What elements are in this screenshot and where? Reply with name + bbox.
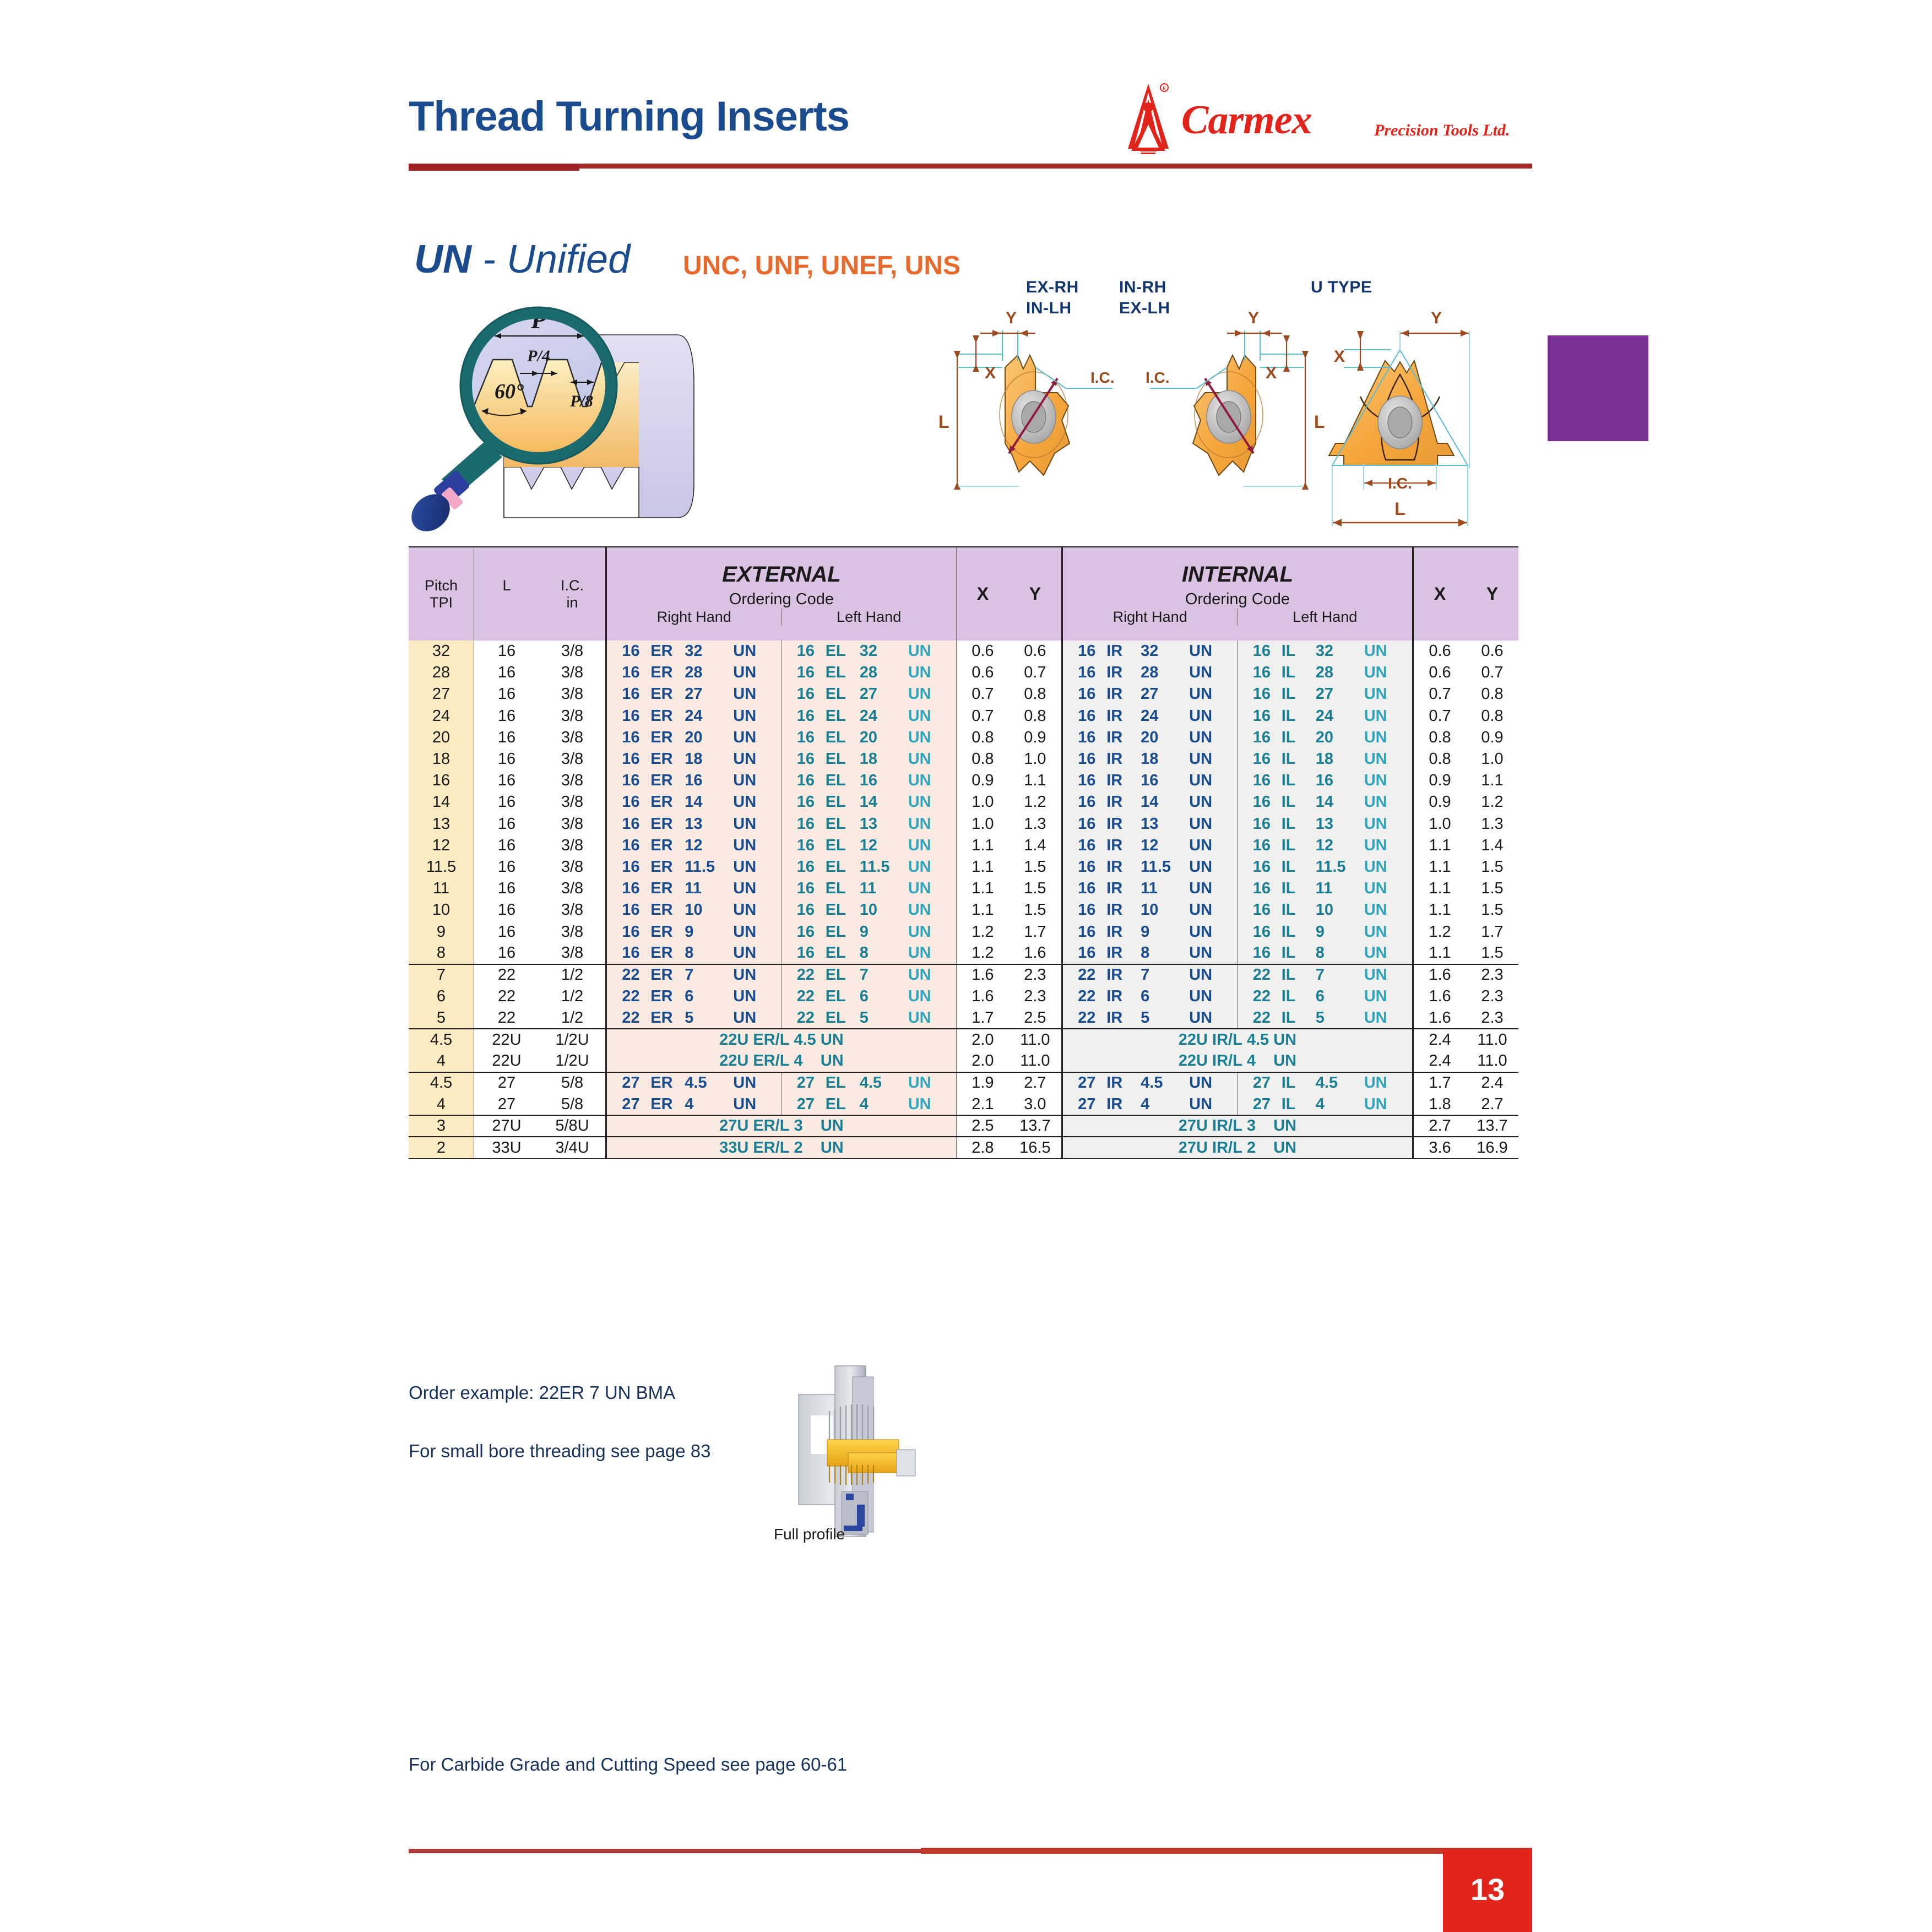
table-row: 32163/816ER32UN16EL32UN0.60.616IR32UN16I…: [409, 641, 1518, 662]
cell-pitch: 6: [409, 986, 474, 1007]
th-external-group: EXTERNAL Ordering Code Right Hand Left H…: [606, 547, 957, 641]
cell-internal-x: 0.6: [1413, 662, 1467, 683]
cell-internal-lh-code: 16IL11UN: [1238, 878, 1413, 899]
th-int-ordering: Ordering Code: [1063, 590, 1412, 609]
table-header: Pitch TPI L I.C. in EXTERNAL Ordering Co…: [409, 547, 1518, 641]
cell-external-code: 22U ER/L 4 UN: [606, 1051, 957, 1072]
cell-external-lh-code: 22EL5UN: [782, 1007, 956, 1029]
cell-external-rh-code: 16ER16UN: [606, 770, 782, 791]
cell-ic: 5/8: [539, 1094, 606, 1115]
th-int-left-hand: Left Hand: [1237, 609, 1412, 626]
cell-internal-x: 1.6: [1413, 964, 1467, 986]
cell-ic: 1/2: [539, 964, 606, 986]
catalog-page: Thread Turning Inserts R Carmex Precisio…: [0, 0, 1932, 1932]
cell-internal-rh-code: 16IR11UN: [1062, 878, 1238, 899]
thread-insert-spec-table: Pitch TPI L I.C. in EXTERNAL Ordering Co…: [409, 546, 1518, 1159]
insert-in-rh: X Y L I.C.: [1146, 309, 1325, 490]
cell-external-lh-code: 16EL8UN: [782, 943, 956, 964]
table-row: 6221/222ER6UN22EL6UN1.62.322IR6UN22IL6UN…: [409, 986, 1518, 1007]
cell-l: 16: [474, 943, 540, 964]
cell-internal-y: 0.6: [1466, 641, 1518, 662]
th-l-label: L: [474, 577, 539, 594]
cell-external-x: 1.1: [956, 856, 1009, 878]
cell-external-x: 0.9: [956, 770, 1009, 791]
cell-external-x: 1.1: [956, 835, 1009, 856]
page-number: 13: [1443, 1871, 1532, 1907]
cell-internal-lh-code: 16IL11.5UN: [1238, 856, 1413, 878]
logo-wordmark: Carmex: [1181, 97, 1312, 144]
cell-external-y: 1.4: [1009, 835, 1062, 856]
cell-external-rh-code: 16ER9UN: [606, 921, 782, 942]
cell-external-lh-code: 22EL6UN: [782, 986, 956, 1007]
cell-internal-y: 1.5: [1466, 943, 1518, 964]
cell-internal-y: 0.8: [1466, 683, 1518, 705]
cell-l: 16: [474, 813, 540, 835]
cell-ic: 1/2: [539, 986, 606, 1007]
cell-ic: 1/2: [539, 1007, 606, 1029]
cell-ic: 3/8: [539, 791, 606, 813]
table-row: 18163/816ER18UN16EL18UN0.81.016IR18UN16I…: [409, 748, 1518, 770]
th-internal: INTERNAL: [1063, 562, 1412, 590]
svg-text:X: X: [1266, 364, 1277, 382]
cell-external-lh-code: 16EL28UN: [782, 662, 956, 683]
cell-pitch: 4: [409, 1094, 474, 1115]
carmex-logo: R Carmex Precision Tools Ltd.: [1118, 83, 1537, 160]
cell-external-y: 2.7: [1009, 1072, 1062, 1094]
cell-pitch: 3: [409, 1115, 474, 1137]
cell-external-x: 1.1: [956, 878, 1009, 899]
cell-external-y: 16.5: [1009, 1137, 1062, 1158]
cell-l: 22U: [474, 1029, 540, 1050]
cell-l: 16: [474, 770, 540, 791]
logo-tagline: Precision Tools Ltd.: [1374, 121, 1510, 140]
cell-ic: 3/8: [539, 835, 606, 856]
cell-internal-code: 22U IR/L 4 UN: [1062, 1051, 1413, 1072]
cell-internal-x: 1.1: [1413, 835, 1467, 856]
cell-internal-rh-code: 27IR4.5UN: [1062, 1072, 1238, 1094]
cell-internal-x: 0.9: [1413, 770, 1467, 791]
svg-text:L: L: [1394, 499, 1405, 519]
cell-l: 27U: [474, 1115, 540, 1137]
cell-pitch: 18: [409, 748, 474, 770]
cell-internal-rh-code: 16IR13UN: [1062, 813, 1238, 835]
cell-l: 16: [474, 683, 540, 705]
cell-l: 16: [474, 748, 540, 770]
cell-internal-lh-code: 16IL10UN: [1238, 899, 1413, 921]
carbide-grade-note: For Carbide Grade and Cutting Speed see …: [409, 1754, 847, 1775]
cell-internal-rh-code: 27IR4UN: [1062, 1094, 1238, 1115]
cell-pitch: 10: [409, 899, 474, 921]
cell-external-x: 0.6: [956, 662, 1009, 683]
cell-external-lh-code: 16EL13UN: [782, 813, 956, 835]
cell-external-lh-code: 16EL32UN: [782, 641, 956, 662]
cell-internal-rh-code: 16IR28UN: [1062, 662, 1238, 683]
cell-external-lh-code: 16EL16UN: [782, 770, 956, 791]
cell-internal-x: 0.8: [1413, 727, 1467, 748]
cell-l: 27: [474, 1072, 540, 1094]
cell-external-rh-code: 16ER10UN: [606, 899, 782, 921]
cell-external-lh-code: 16EL18UN: [782, 748, 956, 770]
cell-pitch: 8: [409, 943, 474, 964]
cell-external-x: 0.8: [956, 727, 1009, 748]
svg-text:R: R: [1163, 85, 1166, 91]
cell-external-lh-code: 16EL12UN: [782, 835, 956, 856]
cell-external-y: 2.5: [1009, 1007, 1062, 1029]
insert-diagrams-group: EX-RH IN-LH IN-RH EX-LH U TYPE: [925, 278, 1537, 537]
cell-external-lh-code: 16EL24UN: [782, 705, 956, 727]
cell-internal-x: 0.9: [1413, 791, 1467, 813]
cell-l: 22: [474, 986, 540, 1007]
cell-internal-y: 1.2: [1466, 791, 1518, 813]
cell-internal-lh-code: 22IL7UN: [1238, 964, 1413, 986]
cell-external-rh-code: 22ER7UN: [606, 964, 782, 986]
cell-l: 16: [474, 878, 540, 899]
cell-external-y: 11.0: [1009, 1029, 1062, 1050]
th-int-right-hand: Right Hand: [1063, 609, 1238, 626]
cell-external-rh-code: 22ER6UN: [606, 986, 782, 1007]
cell-internal-x: 2.4: [1413, 1051, 1467, 1072]
ic-label-mid: I.C.: [1146, 369, 1170, 386]
cell-internal-rh-code: 16IR27UN: [1062, 683, 1238, 705]
quarter-pitch-label: P/4: [527, 347, 550, 365]
footer-rule-accent: [921, 1848, 1532, 1854]
cell-external-x: 2.0: [956, 1051, 1009, 1072]
cell-external-rh-code: 16ER13UN: [606, 813, 782, 835]
cell-external-rh-code: 27ER4UN: [606, 1094, 782, 1115]
cell-external-lh-code: 16EL10UN: [782, 899, 956, 921]
cell-external-rh-code: 16ER14UN: [606, 791, 782, 813]
cell-internal-rh-code: 22IR7UN: [1062, 964, 1238, 986]
section-code: UN: [414, 237, 471, 281]
cell-internal-lh-code: 16IL24UN: [1238, 705, 1413, 727]
cell-external-x: 1.6: [956, 964, 1009, 986]
cell-external-x: 2.5: [956, 1115, 1009, 1137]
cell-internal-y: 0.9: [1466, 727, 1518, 748]
cell-ic: 3/8: [539, 813, 606, 835]
table-row: 13163/816ER13UN16EL13UN1.01.316IR13UN16I…: [409, 813, 1518, 835]
table-body: 32163/816ER32UN16EL32UN0.60.616IR32UN16I…: [409, 641, 1518, 1159]
cell-internal-y: 2.4: [1466, 1072, 1518, 1094]
thread-profile-illustration: P P/4 60° P/8: [402, 302, 716, 539]
cell-internal-rh-code: 16IR12UN: [1062, 835, 1238, 856]
cell-internal-x: 3.6: [1413, 1137, 1467, 1158]
cell-internal-rh-code: 16IR18UN: [1062, 748, 1238, 770]
header-rule-accent: [409, 164, 579, 171]
cell-internal-y: 1.5: [1466, 856, 1518, 878]
cell-external-lh-code: 16EL11.5UN: [782, 856, 956, 878]
cell-internal-y: 13.7: [1466, 1115, 1518, 1137]
cell-internal-y: 2.3: [1466, 1007, 1518, 1029]
cell-ic: 3/8: [539, 899, 606, 921]
cell-pitch: 11: [409, 878, 474, 899]
cell-external-y: 1.2: [1009, 791, 1062, 813]
cell-l: 33U: [474, 1137, 540, 1158]
th-ic-line2: in: [539, 594, 605, 611]
table-row: 12163/816ER12UN16EL12UN1.11.416IR12UN16I…: [409, 835, 1518, 856]
full-profile-tool-image: [782, 1360, 936, 1542]
th-pitch-line2: TPI: [409, 594, 474, 611]
cell-internal-y: 11.0: [1466, 1029, 1518, 1050]
cell-pitch: 12: [409, 835, 474, 856]
cell-l: 22U: [474, 1051, 540, 1072]
cell-l: 16: [474, 641, 540, 662]
cell-ic: 3/8: [539, 878, 606, 899]
cell-external-x: 2.8: [956, 1137, 1009, 1158]
cell-internal-lh-code: 22IL5UN: [1238, 1007, 1413, 1029]
order-example-note: Order example: 22ER 7 UN BMA: [409, 1382, 675, 1403]
cell-internal-y: 16.9: [1466, 1137, 1518, 1158]
cell-internal-x: 1.8: [1413, 1094, 1467, 1115]
cell-ic: 5/8U: [539, 1115, 606, 1137]
insert-u-type: X Y I.C. L: [1329, 309, 1469, 527]
svg-text:X: X: [1334, 348, 1345, 366]
cell-pitch: 14: [409, 791, 474, 813]
cell-external-y: 1.7: [1009, 921, 1062, 942]
cell-pitch: 27: [409, 683, 474, 705]
cell-internal-lh-code: 16IL20UN: [1238, 727, 1413, 748]
cell-external-x: 0.7: [956, 683, 1009, 705]
cell-external-lh-code: 16EL27UN: [782, 683, 956, 705]
cell-internal-lh-code: 16IL8UN: [1238, 943, 1413, 964]
cell-internal-lh-code: 16IL12UN: [1238, 835, 1413, 856]
cell-external-y: 11.0: [1009, 1051, 1062, 1072]
cell-internal-lh-code: 16IL9UN: [1238, 921, 1413, 942]
cell-internal-rh-code: 16IR24UN: [1062, 705, 1238, 727]
cell-internal-rh-code: 16IR14UN: [1062, 791, 1238, 813]
cell-external-y: 0.7: [1009, 662, 1062, 683]
cell-pitch: 20: [409, 727, 474, 748]
cell-external-rh-code: 27ER4.5UN: [606, 1072, 782, 1094]
cell-ic: 3/4U: [539, 1137, 606, 1158]
cell-internal-lh-code: 16IL14UN: [1238, 791, 1413, 813]
cell-internal-y: 11.0: [1466, 1051, 1518, 1072]
th-ext-ordering: Ordering Code: [607, 590, 956, 609]
cell-ic: 3/8: [539, 748, 606, 770]
cell-external-y: 1.5: [1009, 899, 1062, 921]
cell-l: 27: [474, 1094, 540, 1115]
cell-external-y: 1.5: [1009, 856, 1062, 878]
cell-internal-x: 0.7: [1413, 705, 1467, 727]
cell-external-x: 1.7: [956, 1007, 1009, 1029]
cell-internal-x: 1.7: [1413, 1072, 1467, 1094]
cell-l: 16: [474, 791, 540, 813]
section-dash: -: [471, 237, 507, 281]
cell-internal-x: 1.1: [1413, 899, 1467, 921]
section-heading: UN - Unified: [414, 237, 630, 282]
cell-external-y: 1.5: [1009, 878, 1062, 899]
insert-diagram-svg: X Y L I.C.: [925, 278, 1537, 537]
cell-external-x: 0.8: [956, 748, 1009, 770]
thread-angle-label: 60°: [495, 380, 524, 403]
cell-external-y: 3.0: [1009, 1094, 1062, 1115]
table-row: 4.522U1/2U22U ER/L 4.5 UN2.011.022U IR/L…: [409, 1029, 1518, 1050]
cell-pitch: 4.5: [409, 1029, 474, 1050]
table-row: 27163/816ER27UN16EL27UN0.70.816IR27UN16I…: [409, 683, 1518, 705]
cell-internal-y: 1.5: [1466, 899, 1518, 921]
table-row: 5221/222ER5UN22EL5UN1.72.522IR5UN22IL5UN…: [409, 1007, 1518, 1029]
table-row: 10163/816ER10UN16EL10UN1.11.516IR10UN16I…: [409, 899, 1518, 921]
cell-internal-lh-code: 27IL4UN: [1238, 1094, 1413, 1115]
cell-internal-code: 27U IR/L 2 UN: [1062, 1137, 1413, 1158]
cell-ic: 3/8: [539, 770, 606, 791]
svg-text:Y: Y: [1431, 309, 1442, 327]
cell-internal-y: 0.8: [1466, 705, 1518, 727]
cell-external-y: 0.8: [1009, 705, 1062, 727]
cell-external-y: 2.3: [1009, 964, 1062, 986]
cell-external-x: 1.6: [956, 986, 1009, 1007]
cell-pitch: 9: [409, 921, 474, 942]
table-row: 20163/816ER20UN16EL20UN0.80.916IR20UN16I…: [409, 727, 1518, 748]
cell-internal-x: 1.2: [1413, 921, 1467, 942]
table-row: 24163/816ER24UN16EL24UN0.70.816IR24UN16I…: [409, 705, 1518, 727]
cell-internal-code: 22U IR/L 4.5 UN: [1062, 1029, 1413, 1050]
cell-internal-x: 2.4: [1413, 1029, 1467, 1050]
cell-external-rh-code: 16ER28UN: [606, 662, 782, 683]
cell-external-rh-code: 16ER18UN: [606, 748, 782, 770]
cell-external-rh-code: 16ER11UN: [606, 878, 782, 899]
cell-external-x: 1.2: [956, 921, 1009, 942]
cell-internal-x: 1.0: [1413, 813, 1467, 835]
cell-external-lh-code: 22EL7UN: [782, 964, 956, 986]
svg-text:X: X: [985, 364, 996, 382]
cell-pitch: 5: [409, 1007, 474, 1029]
eighth-pitch-label: P/8: [569, 392, 593, 410]
cell-ic: 3/8: [539, 727, 606, 748]
th-ic-line1: I.C.: [539, 577, 605, 594]
cell-external-y: 1.6: [1009, 943, 1062, 964]
th-internal-group: INTERNAL Ordering Code Right Hand Left H…: [1062, 547, 1413, 641]
cell-external-rh-code: 16ER8UN: [606, 943, 782, 964]
cell-internal-lh-code: 16IL16UN: [1238, 770, 1413, 791]
table-row: 11163/816ER11UN16EL11UN1.11.516IR11UN16I…: [409, 878, 1518, 899]
table-row: 4275/827ER4UN27EL4UN2.13.027IR4UN27IL4UN…: [409, 1094, 1518, 1115]
table-row: 422U1/2U22U ER/L 4 UN2.011.022U IR/L 4 U…: [409, 1051, 1518, 1072]
cell-internal-rh-code: 16IR9UN: [1062, 921, 1238, 942]
cell-l: 22: [474, 964, 540, 986]
cell-internal-rh-code: 16IR8UN: [1062, 943, 1238, 964]
cell-internal-x: 1.1: [1413, 856, 1467, 878]
cell-external-y: 1.0: [1009, 748, 1062, 770]
cell-external-code: 22U ER/L 4.5 UN: [606, 1029, 957, 1050]
cell-ic: 3/8: [539, 705, 606, 727]
table-row: 16163/816ER16UN16EL16UN0.91.116IR16UN16I…: [409, 770, 1518, 791]
table-row: 7221/222ER7UN22EL7UN1.62.322IR7UN22IL7UN…: [409, 964, 1518, 986]
cell-external-y: 0.9: [1009, 727, 1062, 748]
cell-internal-y: 1.5: [1466, 878, 1518, 899]
cell-external-lh-code: 16EL9UN: [782, 921, 956, 942]
cell-internal-rh-code: 16IR32UN: [1062, 641, 1238, 662]
cell-internal-y: 0.7: [1466, 662, 1518, 683]
svg-text:Y: Y: [1006, 309, 1017, 327]
cell-external-rh-code: 16ER24UN: [606, 705, 782, 727]
cell-l: 16: [474, 899, 540, 921]
cell-external-lh-code: 16EL20UN: [782, 727, 956, 748]
cell-internal-rh-code: 16IR20UN: [1062, 727, 1238, 748]
cell-external-lh-code: 27EL4.5UN: [782, 1072, 956, 1094]
table-row: 327U5/8U27U ER/L 3 UN2.513.727U IR/L 3 U…: [409, 1115, 1518, 1137]
cell-ic: 3/8: [539, 683, 606, 705]
cell-ic: 3/8: [539, 662, 606, 683]
cell-internal-lh-code: 22IL6UN: [1238, 986, 1413, 1007]
section-name: Unified: [507, 237, 630, 281]
cell-external-y: 13.7: [1009, 1115, 1062, 1137]
cell-internal-x: 0.6: [1413, 641, 1467, 662]
cell-internal-code: 27U IR/L 3 UN: [1062, 1115, 1413, 1137]
cell-internal-y: 1.0: [1466, 748, 1518, 770]
th-ext-x: X: [956, 547, 1009, 641]
cell-external-x: 1.2: [956, 943, 1009, 964]
th-int-y: Y: [1466, 547, 1518, 641]
th-ext-right-hand: Right Hand: [607, 609, 781, 626]
cell-internal-y: 1.1: [1466, 770, 1518, 791]
cell-l: 16: [474, 921, 540, 942]
cell-ic: 3/8: [539, 641, 606, 662]
cell-external-lh-code: 16EL11UN: [782, 878, 956, 899]
cell-ic: 1/2U: [539, 1051, 606, 1072]
cell-internal-x: 2.7: [1413, 1115, 1467, 1137]
cell-ic: 3/8: [539, 921, 606, 942]
cell-external-x: 1.9: [956, 1072, 1009, 1094]
cell-external-x: 1.0: [956, 791, 1009, 813]
cell-internal-y: 2.7: [1466, 1094, 1518, 1115]
cell-internal-x: 1.6: [1413, 986, 1467, 1007]
th-pitch-line1: Pitch: [409, 577, 474, 594]
cell-external-rh-code: 16ER12UN: [606, 835, 782, 856]
cell-external-rh-code: 22ER5UN: [606, 1007, 782, 1029]
cell-internal-rh-code: 22IR6UN: [1062, 986, 1238, 1007]
cell-external-x: 1.0: [956, 813, 1009, 835]
cell-l: 22: [474, 1007, 540, 1029]
th-ext-y: Y: [1009, 547, 1062, 641]
cell-pitch: 4: [409, 1051, 474, 1072]
cell-external-rh-code: 16ER27UN: [606, 683, 782, 705]
table-row: 8163/816ER8UN16EL8UN1.21.616IR8UN16IL8UN…: [409, 943, 1518, 964]
cell-l: 16: [474, 705, 540, 727]
svg-text:L: L: [1314, 412, 1325, 432]
cell-internal-y: 1.7: [1466, 921, 1518, 942]
cell-external-lh-code: 16EL14UN: [782, 791, 956, 813]
cell-ic: 1/2U: [539, 1029, 606, 1050]
cell-internal-lh-code: 27IL4.5UN: [1238, 1072, 1413, 1094]
section-standards: UNC, UNF, UNEF, UNS: [683, 251, 960, 281]
cell-l: 16: [474, 727, 540, 748]
cell-external-y: 0.6: [1009, 641, 1062, 662]
cell-internal-lh-code: 16IL18UN: [1238, 748, 1413, 770]
cell-internal-lh-code: 16IL32UN: [1238, 641, 1413, 662]
cell-pitch: 2: [409, 1137, 474, 1158]
cell-internal-x: 1.1: [1413, 943, 1467, 964]
cell-internal-x: 0.7: [1413, 683, 1467, 705]
cell-pitch: 11.5: [409, 856, 474, 878]
full-profile-caption: Full profile: [774, 1526, 845, 1543]
page-title: Thread Turning Inserts: [409, 93, 849, 140]
cell-external-x: 0.6: [956, 641, 1009, 662]
cell-external-x: 2.0: [956, 1029, 1009, 1050]
cell-external-code: 27U ER/L 3 UN: [606, 1115, 957, 1137]
cell-pitch: 24: [409, 705, 474, 727]
cell-ic: 3/8: [539, 856, 606, 878]
cell-external-rh-code: 16ER11.5UN: [606, 856, 782, 878]
cell-internal-y: 1.3: [1466, 813, 1518, 835]
table-row: 28163/816ER28UN16EL28UN0.60.716IR28UN16I…: [409, 662, 1518, 683]
cell-external-rh-code: 16ER32UN: [606, 641, 782, 662]
svg-text:L: L: [938, 412, 949, 432]
cell-external-y: 1.1: [1009, 770, 1062, 791]
cell-internal-x: 0.8: [1413, 748, 1467, 770]
ic-label-u: I.C.: [1388, 475, 1412, 492]
cell-internal-rh-code: 16IR11.5UN: [1062, 856, 1238, 878]
table-header-row: Pitch TPI L I.C. in EXTERNAL Ordering Co…: [409, 547, 1518, 641]
